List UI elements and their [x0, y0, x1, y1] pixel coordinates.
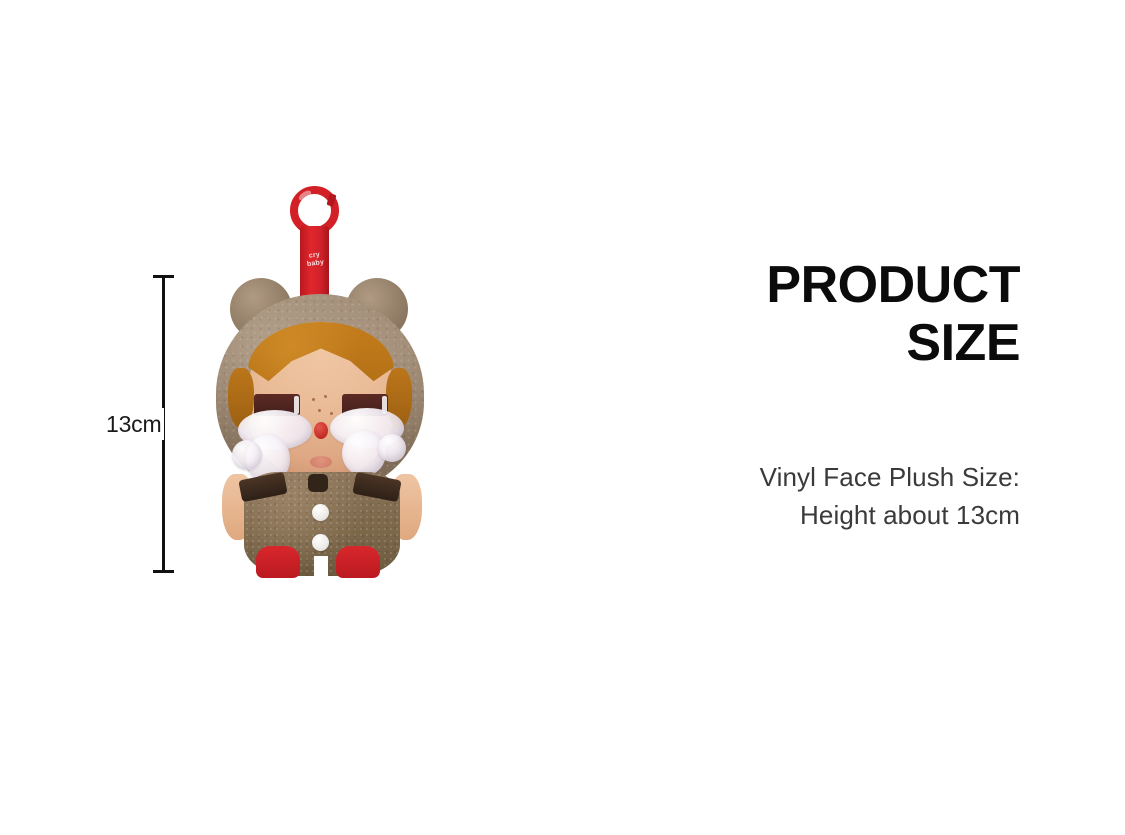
product-description-line2: Height about 13cm — [560, 496, 1020, 534]
page-title-line1: PRODUCT — [766, 256, 1020, 314]
page-title: PRODUCT SIZE — [560, 256, 1020, 372]
freckle — [312, 398, 315, 401]
shoe-right — [336, 546, 380, 578]
eye-gleam-left — [294, 396, 299, 414]
teardrop-right-outer — [378, 434, 406, 462]
freckle — [330, 412, 333, 415]
product-image: cry baby — [196, 172, 446, 587]
dimension-cap-bottom — [153, 570, 174, 573]
shoe-left — [256, 546, 300, 578]
freckle — [324, 395, 327, 398]
dimension-label: 13cm — [106, 408, 164, 440]
product-description-line1: Vinyl Face Plush Size: — [760, 462, 1020, 492]
page-canvas: 13cm cry baby — [0, 0, 1125, 835]
mouth — [310, 456, 332, 468]
button-bottom — [312, 534, 329, 551]
leg-gap — [314, 556, 328, 582]
bow-knot — [308, 474, 328, 492]
product-description: Vinyl Face Plush Size: Height about 13cm — [560, 372, 1020, 534]
page-title-line2: SIZE — [560, 314, 1020, 372]
text-block: PRODUCT SIZE Vinyl Face Plush Size: Heig… — [560, 256, 1020, 534]
button-top — [312, 504, 329, 521]
nose — [314, 422, 328, 439]
keychain-strap: cry baby — [300, 226, 329, 304]
brand-label: cry baby — [302, 250, 328, 268]
freckle — [318, 409, 321, 412]
teardrop-left-outer — [232, 440, 262, 470]
